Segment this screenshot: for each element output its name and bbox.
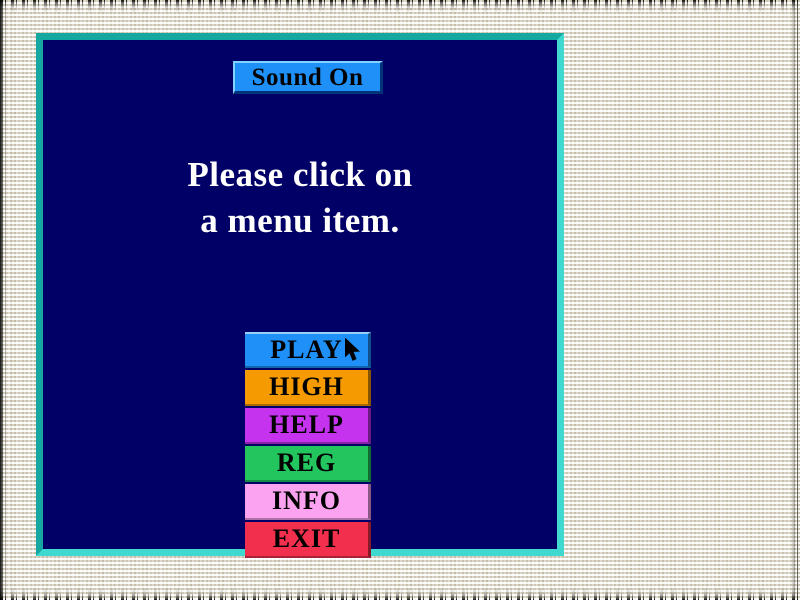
menu-button-info-label: INFO (272, 488, 341, 514)
main-menu-panel-inner: Sound On Please click on a menu item. PL… (43, 40, 557, 549)
menu-button-play-label: PLAY (270, 337, 342, 363)
menu-button-reg[interactable]: REG (245, 446, 371, 482)
prompt-message: Please click on a menu item. (43, 152, 557, 244)
sound-toggle-label: Sound On (252, 65, 364, 90)
menu-button-exit-label: EXIT (273, 526, 341, 552)
menu-button-high[interactable]: HIGH (245, 370, 371, 406)
menu-button-reg-label: REG (277, 450, 336, 476)
prompt-message-line-2: a menu item. (43, 198, 557, 244)
main-menu-panel: Sound On Please click on a menu item. PL… (36, 33, 564, 556)
menu-button-info[interactable]: INFO (245, 484, 371, 520)
menu-button-exit[interactable]: EXIT (245, 522, 371, 558)
menu-button-high-label: HIGH (269, 374, 344, 400)
menu-button-play[interactable]: PLAY (245, 332, 371, 368)
menu-button-help-label: HELP (269, 412, 344, 438)
prompt-message-line-1: Please click on (43, 152, 557, 198)
menu-button-help[interactable]: HELP (245, 408, 371, 444)
menu-button-stack: PLAY HIGH HELP REG INFO EXIT (245, 332, 371, 560)
sound-toggle-button[interactable]: Sound On (233, 61, 383, 94)
game-screen: Sound On Please click on a menu item. PL… (0, 0, 800, 600)
